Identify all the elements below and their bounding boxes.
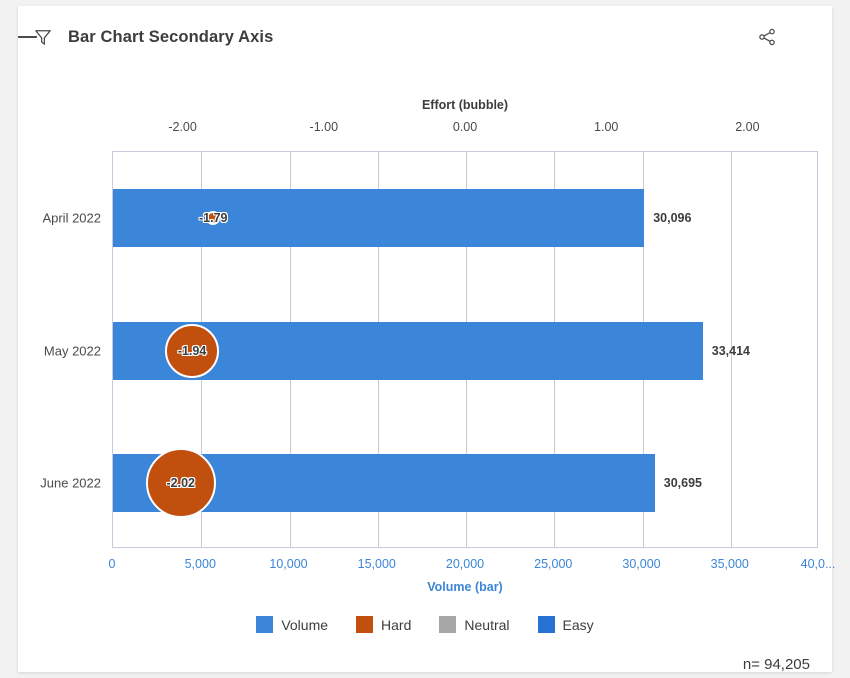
primary-tick-label: 5,000: [185, 557, 216, 571]
hamburger-menu-icon[interactable]: [790, 24, 816, 50]
effort-bubble[interactable]: [165, 324, 219, 378]
bar-value-label: 30,096: [653, 211, 691, 225]
primary-axis-title: Volume (bar): [112, 580, 818, 594]
menu-bar: [18, 36, 37, 38]
sample-size-label: n= 94,205: [743, 656, 810, 673]
primary-tick-label: 40,0...: [801, 557, 836, 571]
legend-swatch: [356, 616, 373, 633]
primary-tick-label: 20,000: [446, 557, 484, 571]
secondary-axis-title: Effort (bubble): [112, 98, 818, 112]
bar[interactable]: [113, 189, 644, 247]
plot-area: April 202230,096-1.79May 202233,414-1.94…: [112, 151, 818, 548]
legend-label: Neutral: [464, 617, 509, 633]
primary-axis-ticks: 05,00010,00015,00020,00025,00030,00035,0…: [112, 557, 818, 575]
card-header: Bar Chart Secondary Axis: [18, 6, 832, 68]
page-title: Bar Chart Secondary Axis: [68, 28, 273, 47]
legend-swatch: [538, 616, 555, 633]
legend-item[interactable]: Hard: [356, 616, 411, 633]
legend-label: Hard: [381, 617, 411, 633]
category-label: May 2022: [44, 343, 101, 358]
legend-item[interactable]: Easy: [538, 616, 594, 633]
legend-swatch: [256, 616, 273, 633]
category-label: June 2022: [40, 475, 101, 490]
legend-item[interactable]: Volume: [256, 616, 328, 633]
effort-bubble[interactable]: [206, 211, 220, 225]
effort-bubble[interactable]: [146, 448, 216, 518]
legend-label: Volume: [281, 617, 328, 633]
chart-area: Effort (bubble) -2.00-1.000.001.002.00 A…: [18, 68, 832, 672]
primary-tick-label: 10,000: [269, 557, 307, 571]
bar-value-label: 33,414: [712, 344, 750, 358]
legend-label: Easy: [563, 617, 594, 633]
legend-item[interactable]: Neutral: [439, 616, 509, 633]
secondary-tick-label: -2.00: [168, 120, 197, 134]
chart-legend: VolumeHardNeutralEasy: [18, 616, 832, 633]
category-label: April 2022: [42, 211, 101, 226]
bar-value-label: 30,695: [664, 476, 702, 490]
secondary-tick-label: 1.00: [594, 120, 618, 134]
chart-card: Bar Chart Secondary Axis Effort (bubble)…: [18, 6, 832, 672]
primary-tick-label: 35,000: [711, 557, 749, 571]
primary-tick-label: 0: [109, 557, 116, 571]
secondary-tick-label: -1.00: [310, 120, 339, 134]
primary-tick-label: 30,000: [622, 557, 660, 571]
primary-tick-label: 15,000: [358, 557, 396, 571]
share-icon[interactable]: [754, 24, 780, 50]
secondary-tick-label: 2.00: [735, 120, 759, 134]
secondary-tick-label: 0.00: [453, 120, 477, 134]
primary-tick-label: 25,000: [534, 557, 572, 571]
secondary-axis-ticks: -2.00-1.000.001.002.00: [112, 120, 818, 138]
legend-swatch: [439, 616, 456, 633]
